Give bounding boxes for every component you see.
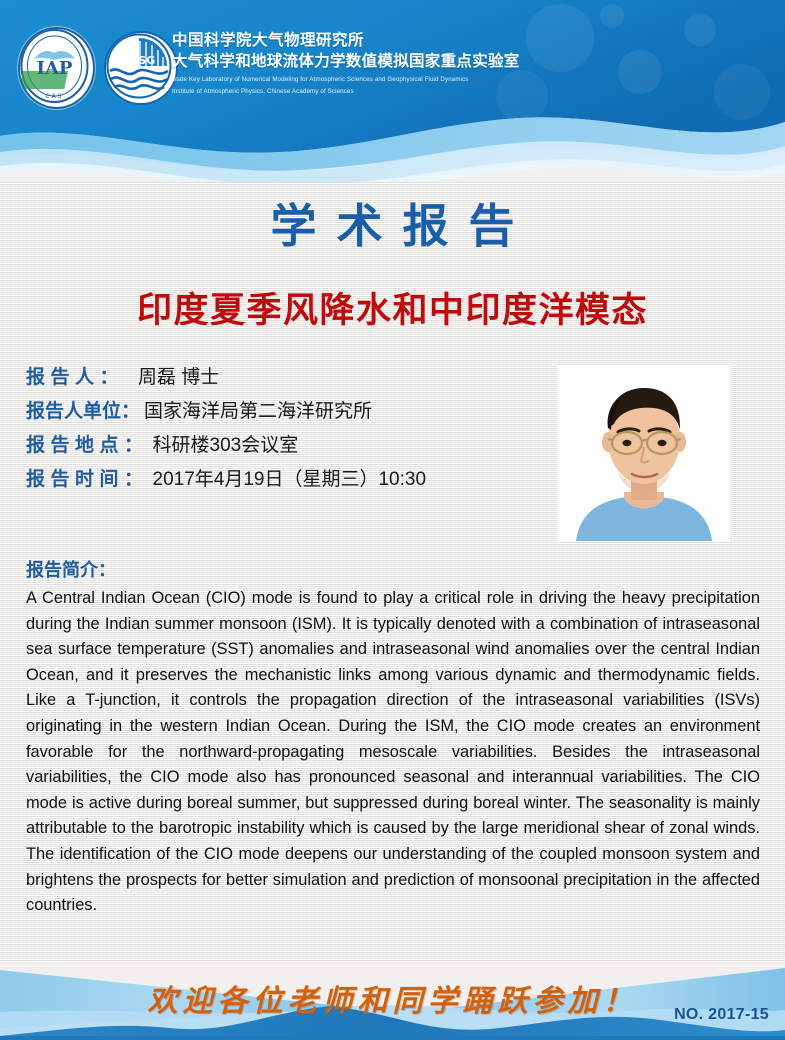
- logo-group: IAP CAS ··: [18, 27, 178, 109]
- info-label-location: 报告地点：: [26, 430, 149, 457]
- info-value-affiliation: 国家海洋局第二海洋研究所: [144, 396, 372, 423]
- cas-logo-text: CAS: [45, 93, 63, 100]
- speaker-portrait-image: [558, 366, 730, 541]
- footer-welcome-text: 欢迎各位老师和同学踊跃参加！: [0, 976, 785, 1020]
- lasg-logo-text: LASG: [123, 54, 155, 67]
- institute-name-en-line2: Institute of Atmospheric Physics, Chines…: [172, 88, 520, 97]
- info-value-speaker: 周磊 博士: [138, 362, 219, 389]
- abstract-text: A Central Indian Ocean (CIO) mode is fou…: [26, 586, 760, 919]
- svg-text:·: ·: [75, 41, 76, 46]
- poster-main-title: 学术报告: [0, 190, 785, 256]
- lab-name-cn: 大气科学和地球流体力学数值模拟国家重点实验室: [172, 51, 520, 73]
- talk-info-block: 报告人： 周磊 博士 报告人单位： 国家海洋局第二海洋研究所 报告地点： 科研楼…: [26, 362, 546, 498]
- abstract-label: 报告简介：: [26, 556, 116, 582]
- svg-text:·: ·: [32, 41, 33, 46]
- poster-header: IAP CAS ··: [0, 0, 785, 182]
- iap-logo-icon: IAP CAS ··: [18, 27, 95, 109]
- info-label-affiliation: 报告人单位：: [26, 396, 140, 423]
- seminar-poster: IAP CAS ··: [0, 0, 785, 1040]
- institute-name-cn: 中国科学院大气物理研究所: [172, 31, 520, 51]
- info-label-speaker: 报告人：: [26, 362, 124, 389]
- lab-name-en-line1: State Key Laboratory of Numerical Modeli…: [172, 76, 520, 85]
- footer-issue-number: NO. 2017-15: [674, 1006, 769, 1024]
- poster-subtitle: 印度夏季风降水和中印度洋模态: [0, 282, 785, 333]
- info-row-affiliation: 报告人单位： 国家海洋局第二海洋研究所: [26, 396, 546, 422]
- iap-logo-text: IAP: [37, 58, 73, 79]
- info-row-speaker: 报告人： 周磊 博士: [26, 362, 546, 388]
- poster-footer: 欢迎各位老师和同学踊跃参加！ NO. 2017-15: [0, 962, 785, 1040]
- info-value-time: 2017年4月19日（星期三）10:30: [153, 464, 427, 491]
- lasg-logo-icon: LASG: [104, 31, 178, 105]
- info-row-time: 报告时间： 2017年4月19日（星期三）10:30: [26, 464, 546, 490]
- info-row-location: 报告地点： 科研楼303会议室: [26, 430, 546, 456]
- speaker-photo: [558, 366, 730, 541]
- institute-titles: 中国科学院大气物理研究所 大气科学和地球流体力学数值模拟国家重点实验室 Stat…: [172, 31, 520, 96]
- info-label-time: 报告时间：: [26, 464, 149, 491]
- info-value-location: 科研楼303会议室: [153, 430, 299, 457]
